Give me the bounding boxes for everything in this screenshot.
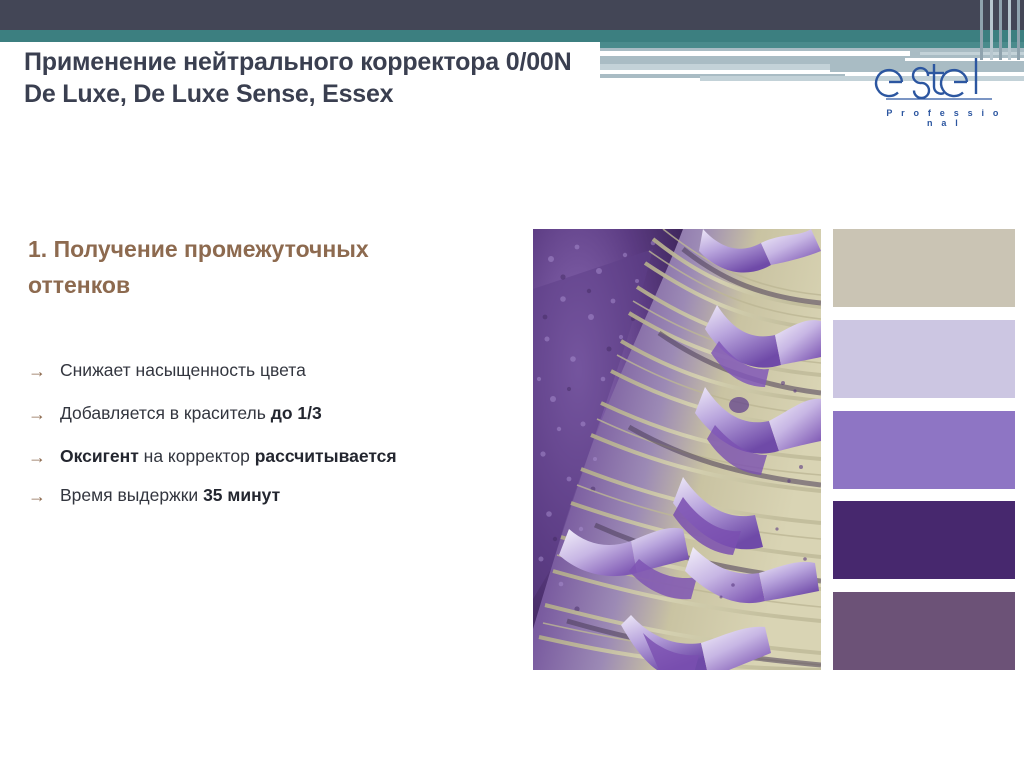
header-vertical-sliver-5 xyxy=(1017,0,1020,60)
section-heading-line-2: оттенков xyxy=(28,268,508,304)
swatch-light-lavender xyxy=(833,320,1015,398)
bullet-proportion: →Добавляется в краситель до 1/3 xyxy=(28,401,518,426)
swatch-medium-purple xyxy=(833,411,1015,489)
header-vertical-sliver-3 xyxy=(999,0,1002,60)
arrow-right-icon: → xyxy=(28,402,46,427)
bullet-emphasis: Оксигент xyxy=(60,446,139,466)
bullet-emphasis: 35 минут xyxy=(203,485,280,505)
header-vertical-sliver-1 xyxy=(980,0,983,60)
bullet-emphasis: рассчитывается xyxy=(255,446,397,466)
bullet-time-text: Время выдержки 35 минут xyxy=(60,485,280,505)
bullet-saturation: →Снижает насыщенность цвета xyxy=(28,358,518,383)
bullet-oxigent-text: Оксигент на корректор рассчитывается xyxy=(60,446,397,466)
lavender-photo-graphic xyxy=(533,229,821,670)
arrow-right-icon: → xyxy=(28,359,46,384)
header-vertical-sliver-2 xyxy=(990,0,993,60)
bullet-text: Снижает насыщенность цвета xyxy=(60,360,306,380)
slide-title-line-1: Применение нейтрального корректора 0/00N xyxy=(24,46,724,78)
estel-logo-tagline: P r o f e s s i o n a l xyxy=(882,108,1006,128)
bullet-time: →Время выдержки 35 минут xyxy=(28,483,518,508)
bullet-list: →Снижает насыщенность цвета→Добавляется … xyxy=(28,358,518,525)
bullet-proportion-text: Добавляется в краситель до 1/3 xyxy=(60,403,322,423)
swatch-mauve xyxy=(833,592,1015,670)
arrow-right-icon: → xyxy=(28,445,46,470)
slide-title-line-2: De Luxe, De Luxe Sense, Essex xyxy=(24,78,724,110)
bullet-text: Время выдержки xyxy=(60,485,203,505)
arrow-right-icon: → xyxy=(28,484,46,509)
bullet-oxigent: →Оксигент на корректор рассчитывается xyxy=(28,444,518,469)
color-swatch-column xyxy=(833,229,1015,670)
lavender-bundles-photo xyxy=(533,229,821,670)
header-vertical-sliver-4 xyxy=(1008,0,1011,60)
bullet-emphasis: до 1/3 xyxy=(271,403,322,423)
estel-logo: P r o f e s s i o n a l xyxy=(872,52,1008,126)
bullet-text: на корректор xyxy=(139,446,255,466)
section-heading-line-1: 1. Получение промежуточных xyxy=(28,232,508,268)
presentation-slide: Применение нейтрального корректора 0/00N… xyxy=(0,0,1024,767)
bullet-text: Добавляется в краситель xyxy=(60,403,271,423)
header-dark-band xyxy=(0,0,1024,30)
swatch-dark-purple xyxy=(833,501,1015,579)
header-teal-band xyxy=(0,30,1024,42)
section-heading: 1. Получение промежуточных оттенков xyxy=(28,232,508,303)
estel-wordmark-icon xyxy=(872,52,1008,112)
slide-title: Применение нейтрального корректора 0/00N… xyxy=(24,46,724,110)
bullet-saturation-text: Снижает насыщенность цвета xyxy=(60,360,306,380)
swatch-beige xyxy=(833,229,1015,307)
